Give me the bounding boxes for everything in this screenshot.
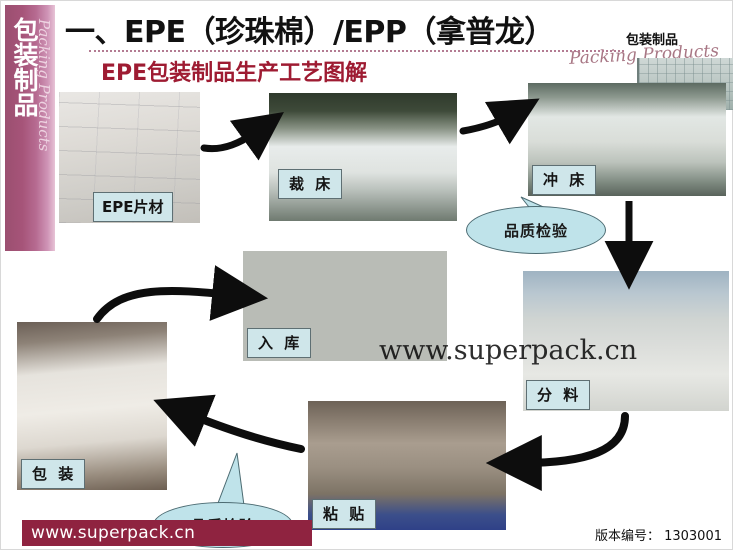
label-packing: 包 装 xyxy=(21,459,85,489)
brand-sidebar: 包装制品 Packing Products xyxy=(5,5,55,251)
footer-version: 版本编号： 1303001 xyxy=(595,525,722,544)
page-title: 一、EPE（珍珠棉）/EPP（拿普龙） xyxy=(65,7,554,51)
label-epe-sheet: EPE片材 xyxy=(93,192,173,222)
arrow-sheet-to-cut xyxy=(204,130,259,149)
arrow-sort-to-glue xyxy=(521,416,625,463)
callout-qc-top-label: 品质检验 xyxy=(504,220,568,241)
label-warehouse: 入 库 xyxy=(247,328,311,358)
label-punch-press: 冲 床 xyxy=(532,165,596,195)
label-sorting: 分 料 xyxy=(526,380,590,410)
slide-canvas: 包装制品 Packing Products 一、EPE（珍珠棉）/EPP（拿普龙… xyxy=(0,0,733,550)
footer-url[interactable]: www.superpack.cn xyxy=(31,523,195,543)
callout-qc-top: 品质检验 xyxy=(466,206,606,254)
sidebar-script-text: Packing Products xyxy=(35,19,53,151)
label-gluing: 粘 贴 xyxy=(312,499,376,529)
arrow-glue-to-pack xyxy=(186,413,301,449)
header-divider xyxy=(89,50,624,52)
page-subtitle: EPE包装制品生产工艺图解 xyxy=(101,55,367,87)
arrow-cut-to-punch xyxy=(463,114,513,131)
label-cutting-table: 裁 床 xyxy=(278,169,342,199)
arrow-pack-to-warehouse xyxy=(97,291,233,319)
photo-cutting-table xyxy=(269,93,457,221)
